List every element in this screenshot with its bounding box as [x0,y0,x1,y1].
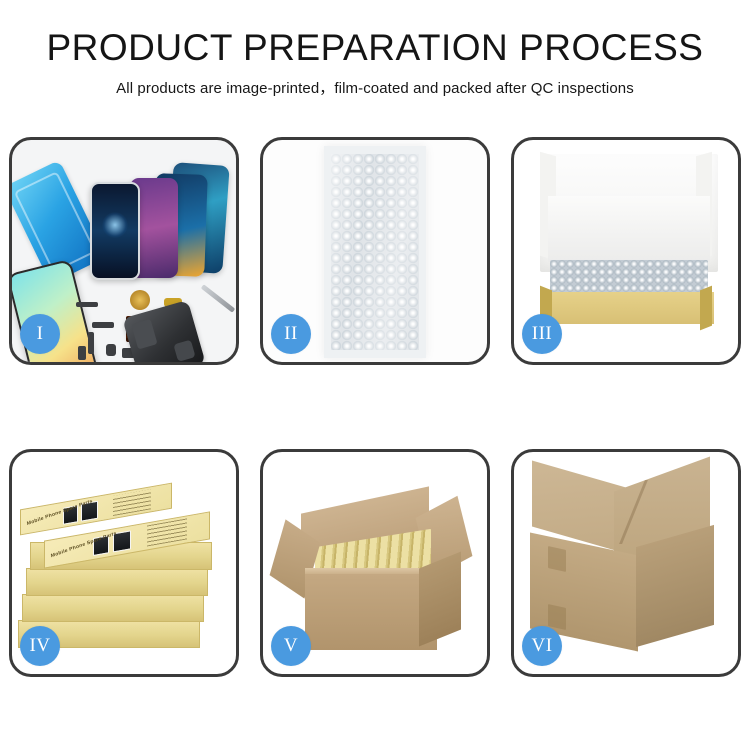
page-subtitle: All products are image-printed，film-coat… [0,79,750,98]
step-badge-4: IV [20,626,60,666]
step-badge-3: III [522,314,562,354]
phone-tempered-glass [90,182,140,280]
bubble-wrapped-items [550,260,708,294]
camera-module-part [106,344,116,356]
plastic-sheen [331,154,419,350]
carton-front-face [305,574,437,650]
carton-tape-upper [548,546,566,572]
header: PRODUCT PREPARATION PROCESS All products… [0,26,750,98]
page-title: PRODUCT PREPARATION PROCESS [0,26,750,70]
step-badge-6: VI [522,626,562,666]
flex-cable-part [76,302,98,307]
step-panel-3: III [511,137,741,365]
step-panel-6: VI [511,449,741,677]
box-text-lines-b [147,518,187,546]
antenna-strip-part [88,332,94,354]
box-text-lines-a [113,489,151,516]
product-preparation-process-infographic: PRODUCT PREPARATION PROCESS All products… [0,0,750,750]
step-badge-1: I [20,314,60,354]
speaker-coil-part [130,290,150,310]
step-panel-1: I [9,137,239,365]
step-panel-2: II [260,137,490,365]
retail-box-3 [26,568,208,596]
box-tray-front [544,292,714,324]
process-steps-grid: I II III [9,137,741,677]
retail-box-4 [22,594,204,622]
carton-tape-lower [548,604,566,630]
step-panel-4: Mobile Phone Spare Parts Mobile Phone Sp… [9,449,239,677]
sealed-carton-side-face [636,525,714,647]
inner-foam-liner [548,196,710,262]
box-tray-right-edge [700,286,712,331]
step-badge-5: V [271,626,311,666]
sim-tray-part [78,346,86,360]
step-badge-2: II [271,314,311,354]
carton-side-face [419,552,461,647]
connector-part [92,322,114,328]
step-panel-5: V [260,449,490,677]
